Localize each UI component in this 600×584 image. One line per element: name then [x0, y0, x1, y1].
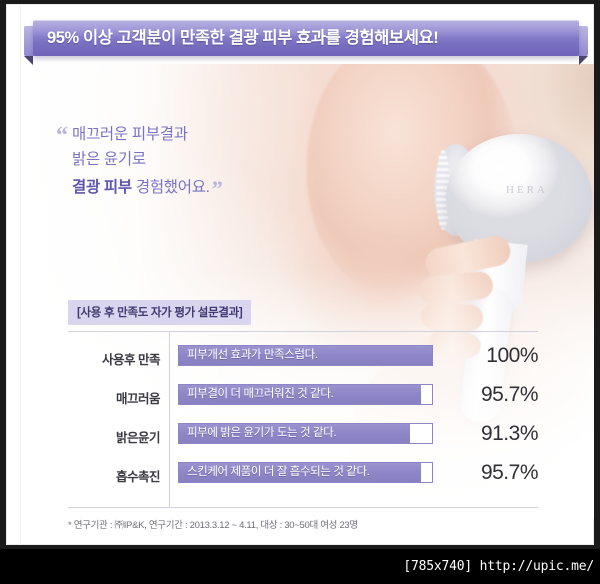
device-brand-label: HERA: [506, 184, 548, 196]
banner-ribbon-right: [578, 26, 588, 56]
row-percent: 95.7%: [450, 379, 538, 410]
table-row: 밝은윤기 피부에 밝은 윤기가 도는 것 같다. 91.3%: [68, 418, 538, 457]
table-row: 매끄러움 피부결이 더 매끄러워진 것 같다. 95.7%: [68, 379, 538, 418]
quote-close-mark: ”: [212, 176, 223, 201]
page-canvas: HERA 95% 이상 고객분이 만족한 결광 피부 효과를 경험해보세요!: [6, 4, 594, 545]
row-percent: 95.7%: [450, 457, 538, 488]
row-statement: 피부결이 더 매끄러워진 것 같다.: [187, 385, 333, 404]
screenshot-root: HERA 95% 이상 고객분이 만족한 결광 피부 효과를 경험해보세요!: [0, 0, 600, 584]
survey-title: [사용 후 만족도 자가 평가 설문결과]: [68, 300, 251, 325]
row-percent: 91.3%: [450, 418, 538, 449]
row-label: 흡수촉진: [68, 466, 160, 485]
quote-emphasis: 결광 피부: [72, 179, 132, 196]
survey-panel: [사용 후 만족도 자가 평가 설문결과] 사용후 만족 피부개선 효과가 만족…: [68, 300, 538, 325]
table-row: 사용후 만족 피부개선 효과가 만족스럽다. 100%: [68, 340, 538, 379]
banner-fold-left: [24, 56, 33, 65]
row-bar-track: 스킨케어 제품이 더 잘 흡수되는 것 같다.: [178, 462, 433, 483]
banner-headline-text: 95% 이상 고객분이 만족한 결광 피부 효과를 경험해보세요!: [47, 20, 569, 56]
quote-open-mark: “: [56, 124, 68, 148]
survey-footnote: * 연구기관 : ㈜IP&K, 연구기간 : 2013.3.12 ~ 4.11,…: [68, 517, 358, 531]
quote-line-1: 매끄러운 피부결과: [72, 122, 332, 147]
survey-top-rule: [68, 331, 538, 332]
quote-line-3-rest: 경험했어요.: [132, 179, 210, 196]
row-label: 사용후 만족: [68, 349, 160, 368]
row-bar-track: 피부에 밝은 윤기가 도는 것 같다.: [178, 423, 433, 444]
testimonial-quote: “ 매끄러운 피부결과 밝은 윤기로 결광 피부 경험했어요.”: [72, 122, 332, 200]
watermark-text: [785x740] http://upic.me/: [403, 549, 594, 584]
headline-banner: 95% 이상 고객분이 만족한 결광 피부 효과를 경험해보세요!: [33, 20, 579, 56]
watermark-bar: [785x740] http://upic.me/: [0, 549, 600, 584]
row-percent: 100%: [450, 340, 538, 371]
outer-frame: HERA 95% 이상 고객분이 만족한 결광 피부 효과를 경험해보세요!: [0, 0, 600, 549]
survey-rows: 사용후 만족 피부개선 효과가 만족스럽다. 100% 매끄러움 피부결이 더 …: [68, 340, 538, 496]
row-label: 매끄러움: [68, 388, 160, 407]
row-statement: 피부개선 효과가 만족스럽다.: [187, 346, 318, 365]
row-label: 밝은윤기: [68, 427, 160, 446]
quote-line-3: 결광 피부 경험했어요.”: [72, 172, 332, 200]
survey-bottom-rule: [68, 507, 538, 508]
row-bar-track: 피부결이 더 매끄러워진 것 같다.: [178, 384, 433, 405]
quote-line-2: 밝은 윤기로: [72, 147, 332, 172]
row-statement: 피부에 밝은 윤기가 도는 것 같다.: [187, 424, 336, 443]
table-row: 흡수촉진 스킨케어 제품이 더 잘 흡수되는 것 같다. 95.7%: [68, 457, 538, 496]
banner-fold-right: [579, 56, 588, 65]
row-bar-track: 피부개선 효과가 만족스럽다.: [178, 345, 433, 366]
row-statement: 스킨케어 제품이 더 잘 흡수되는 것 같다.: [187, 463, 369, 482]
